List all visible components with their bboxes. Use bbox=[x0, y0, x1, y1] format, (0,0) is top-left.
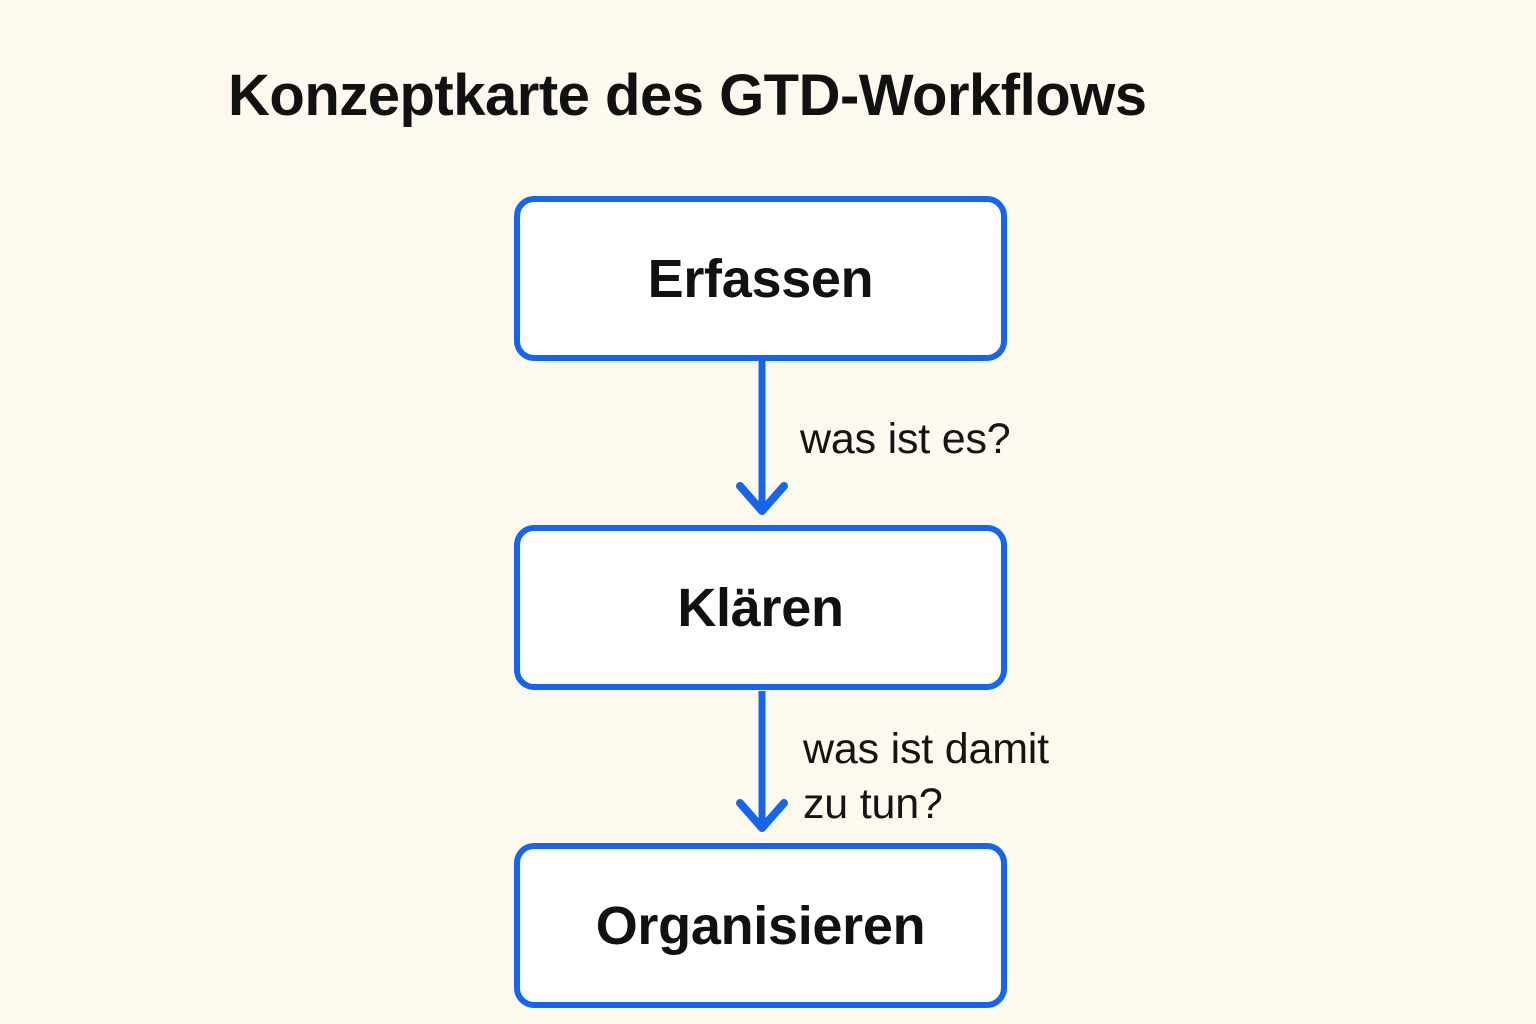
node-organisieren[interactable]: Organisieren bbox=[514, 843, 1007, 1008]
node-label: Erfassen bbox=[648, 252, 874, 306]
node-erfassen[interactable]: Erfassen bbox=[514, 196, 1007, 361]
page-title: Konzeptkarte des GTD-Workflows bbox=[228, 62, 1147, 130]
edge-erfassen-to-klaeren bbox=[740, 361, 784, 511]
node-klaeren[interactable]: Klären bbox=[514, 525, 1007, 690]
node-label: Klären bbox=[677, 581, 843, 635]
edge-label-was-ist-damit-zu-tun: was ist damit zu tun? bbox=[803, 722, 1049, 832]
edge-label-was-ist-es: was ist es? bbox=[800, 412, 1011, 467]
node-label: Organisieren bbox=[596, 899, 926, 953]
diagram-canvas: Konzeptkarte des GTD-Workflows Erfassen … bbox=[0, 0, 1536, 1024]
edge-klaeren-to-organisieren bbox=[740, 691, 784, 828]
